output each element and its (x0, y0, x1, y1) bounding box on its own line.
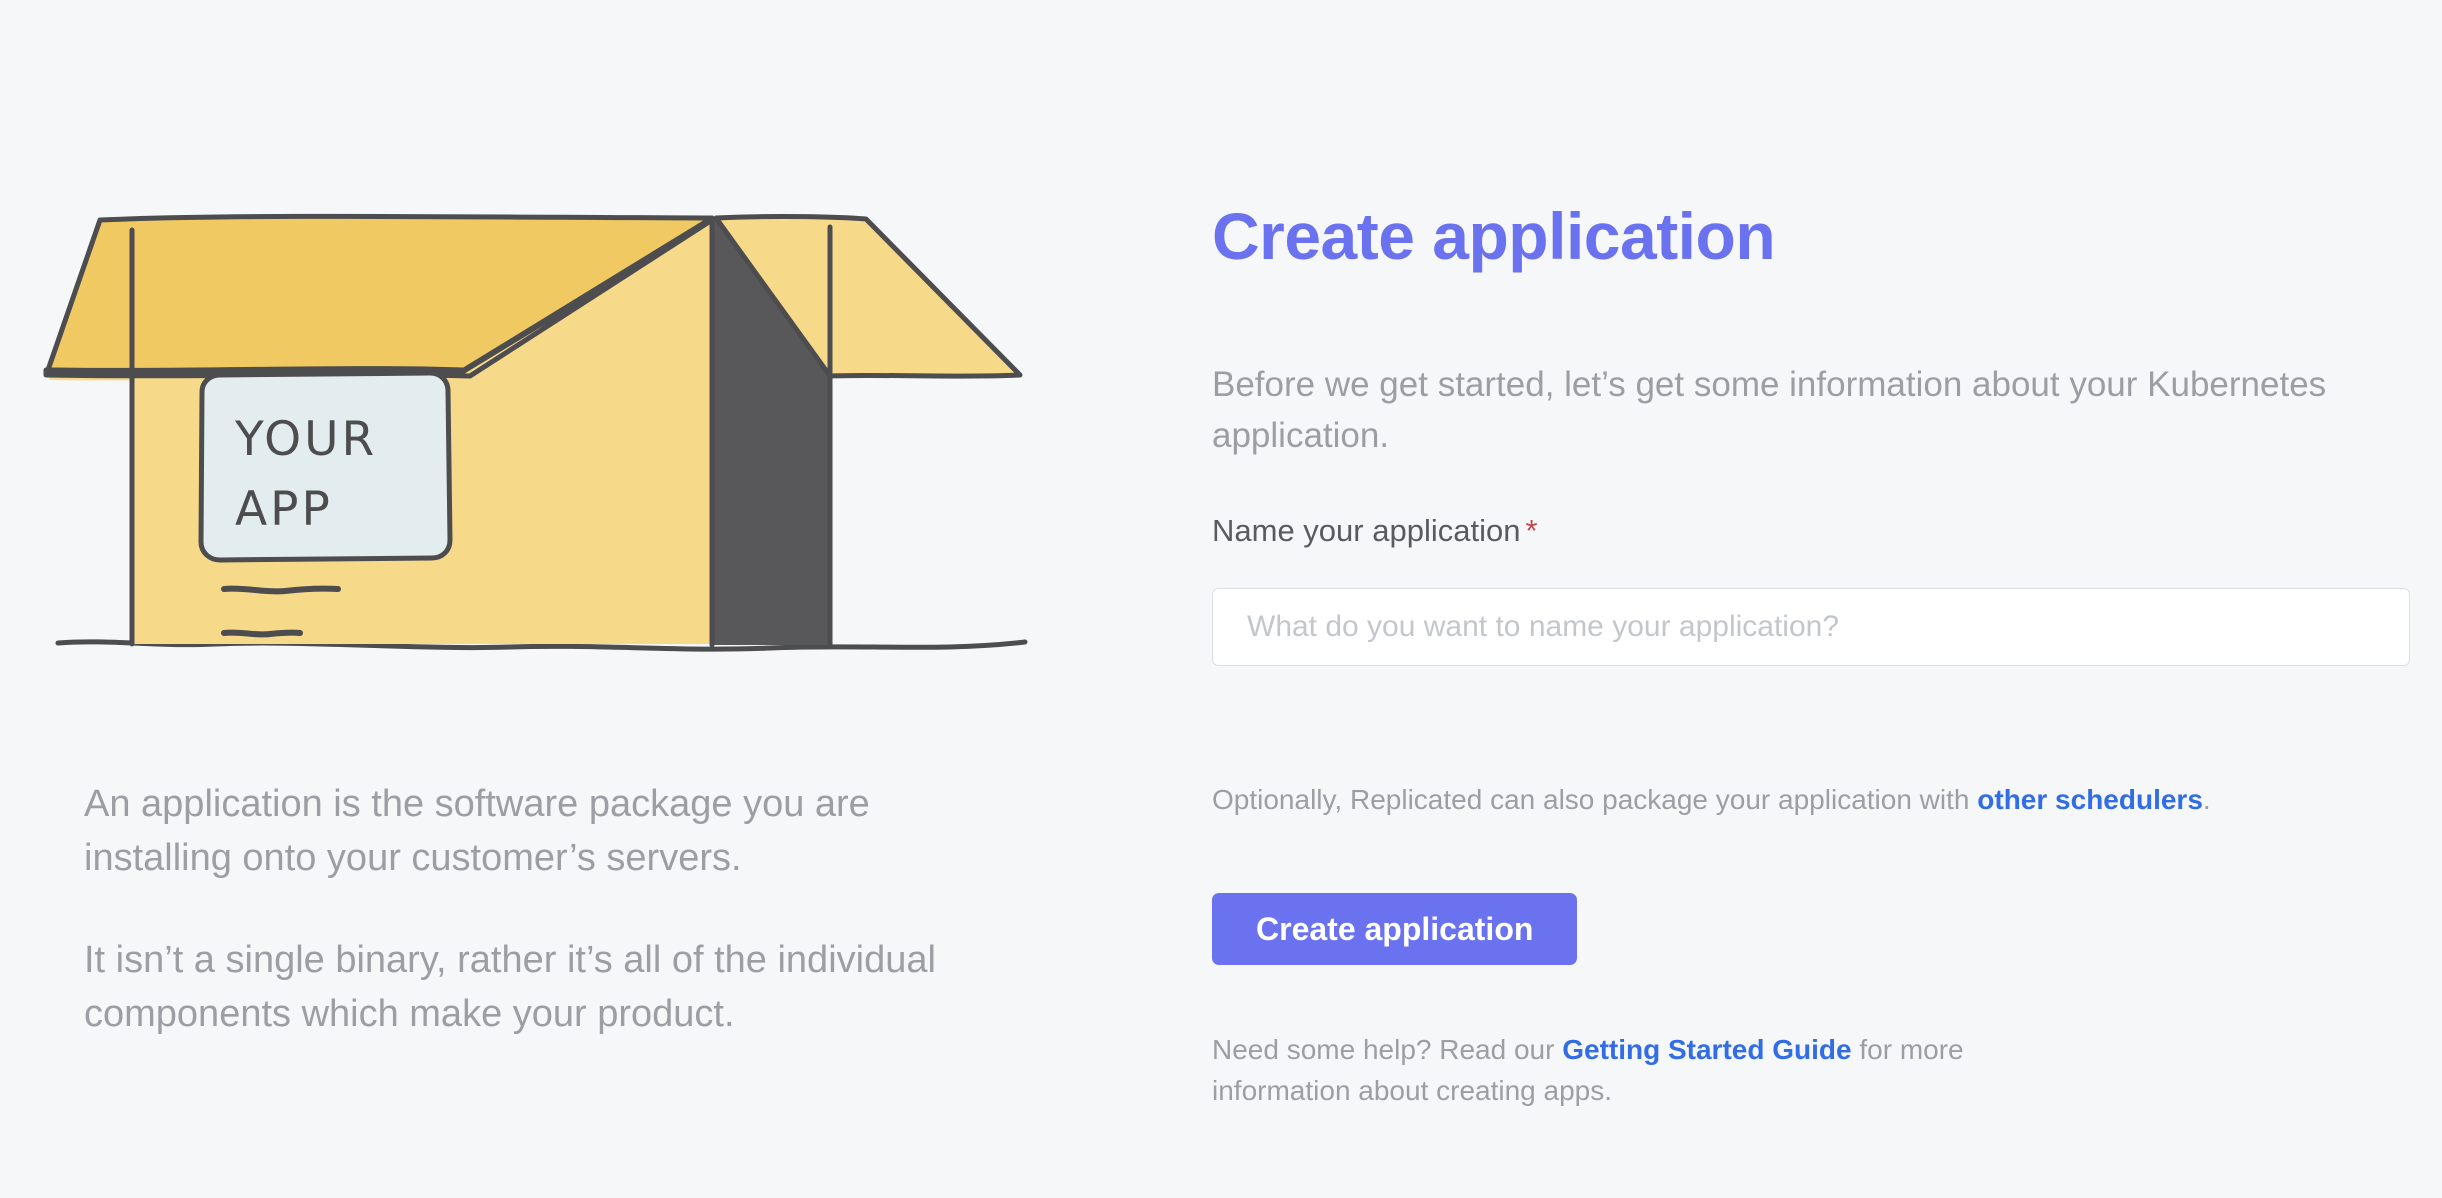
other-schedulers-link[interactable]: other schedulers (1977, 784, 2203, 815)
help-text: Need some help? Read our Getting Started… (1212, 1030, 2012, 1111)
create-application-button[interactable]: Create application (1212, 893, 1577, 965)
getting-started-guide-link[interactable]: Getting Started Guide (1562, 1034, 1851, 1065)
help-prefix: Need some help? Read our (1212, 1034, 1562, 1065)
required-asterisk: * (1525, 513, 1537, 548)
optional-note-prefix: Optionally, Replicated can also package … (1212, 784, 1977, 815)
optional-scheduler-note: Optionally, Replicated can also package … (1212, 784, 2211, 816)
page-title: Create application (1212, 203, 1775, 269)
left-paragraph-1: An application is the software package y… (84, 778, 1024, 886)
name-field-label: Name your application* (1212, 513, 1538, 549)
left-description: An application is the software package y… (84, 778, 1024, 1042)
page-subtitle: Before we get started, let’s get some in… (1212, 360, 2352, 462)
your-app-label-line2: APP (235, 482, 333, 537)
create-application-form: Create application Before we get started… (1212, 0, 2422, 1198)
box-dash-line-2 (224, 633, 300, 635)
box-dash-line-1 (224, 589, 338, 592)
cardboard-box-illustration: YOUR APP (40, 170, 1070, 750)
optional-note-suffix: . (2203, 784, 2211, 815)
application-name-input[interactable] (1212, 588, 2410, 666)
create-application-page: YOUR APP An application is the software … (0, 0, 2442, 1198)
name-field-label-text: Name your application (1212, 513, 1520, 548)
your-app-label-line1: YOUR (234, 412, 377, 467)
left-info-column: YOUR APP An application is the software … (0, 0, 1100, 1198)
left-paragraph-2: It isn’t a single binary, rather it’s al… (84, 934, 1024, 1042)
